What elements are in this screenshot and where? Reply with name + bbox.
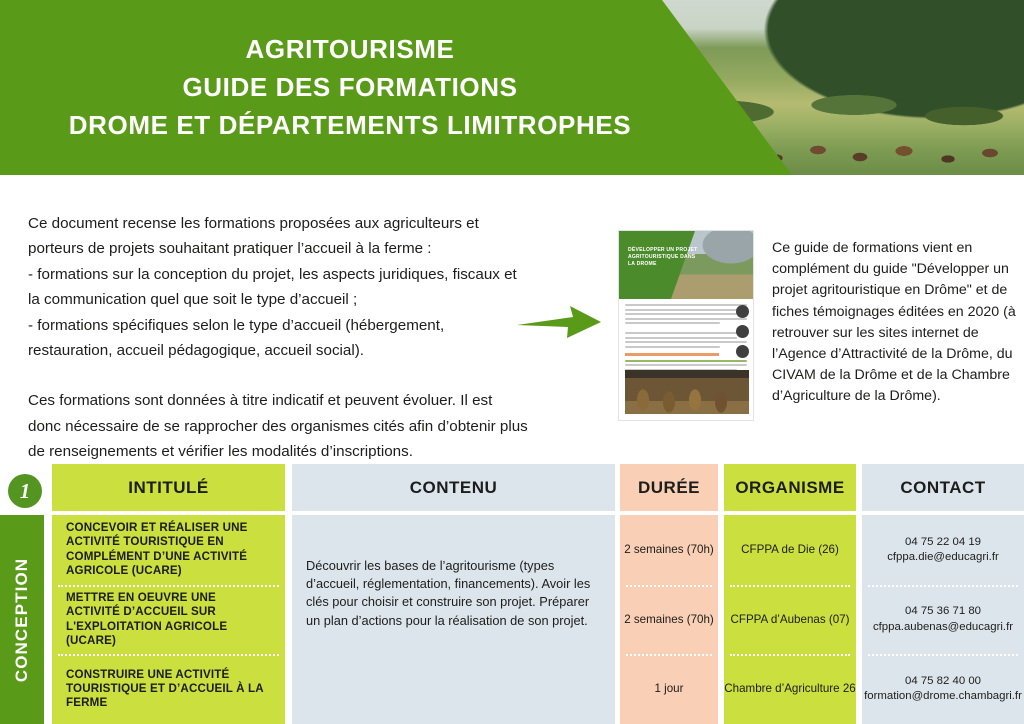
thumbnail-badge-icon-1 (736, 305, 749, 318)
column-header-contact: CONTACT (862, 464, 1024, 511)
thumbnail-subtitle-bar (625, 353, 719, 356)
table-row: Découvrir les bases de l’agritourisme (t… (292, 515, 615, 724)
column-header-intitule: INTITULÉ (52, 464, 285, 511)
cell-contact: 04 75 22 04 19 cfppa.die@educagri.fr (887, 535, 999, 565)
thumbnail-badge-icons (736, 305, 749, 358)
column-body-intitule: CONCEVOIR ET RÉALISER UNE ACTIVITÉ TOURI… (52, 515, 285, 724)
contact-phone: 04 75 22 04 19 (887, 535, 999, 550)
section-number-badge: 1 (8, 474, 42, 508)
contact-phone: 04 75 82 40 00 (864, 674, 1022, 689)
table-grid: INTITULÉ CONTENU DURÉE ORGANISME CONTACT… (52, 462, 1024, 724)
thumbnail-bottom-photo (625, 370, 749, 414)
arrow-right-icon (515, 298, 605, 344)
intro-paragraph-1: Ce document recense les formations propo… (28, 211, 528, 363)
intro-spacer (28, 363, 528, 388)
thumbnail-badge-icon-2 (736, 325, 749, 338)
section-label-conception: CONCEPTION (0, 515, 44, 724)
section-label-text: CONCEPTION (12, 557, 32, 681)
header-title-line-3: DROME ET DÉPARTEMENTS LIMITROPHES (69, 110, 631, 141)
table-row: CFPPA de Die (26) (724, 515, 856, 585)
header-title-block: AGRITOURISME GUIDE DES FORMATIONS DROME … (0, 0, 700, 175)
contact-email[interactable]: cfppa.die@educagri.fr (887, 550, 999, 565)
table-row: 2 semaines (70h) (620, 515, 718, 585)
contact-email[interactable]: cfppa.aubenas@educagri.fr (873, 620, 1013, 635)
table-row: 04 75 82 40 00 formation@drome.chambagri… (862, 654, 1024, 724)
intro-paragraph-2: Ces formations sont données à titre indi… (28, 388, 528, 464)
cell-duree: 2 semaines (70h) (624, 542, 714, 558)
cell-contenu-shared: Découvrir les bases de l’agritourisme (t… (292, 557, 615, 630)
cell-contact: 04 75 82 40 00 formation@drome.chambagri… (864, 674, 1022, 704)
cell-intitule: METTRE EN OEUVRE UNE ACTIVITÉ D’ACCUEIL … (52, 591, 285, 649)
intro-right-text: Ce guide de formations vient en compléme… (772, 238, 1018, 408)
cell-duree: 1 jour (654, 681, 683, 697)
cell-intitule: CONSTRUIRE UNE ACTIVITÉ TOURISTIQUE ET D… (52, 668, 285, 711)
cell-organisme: Chambre d’Agriculture 26 (724, 681, 855, 697)
table-row: CONSTRUIRE UNE ACTIVITÉ TOURISTIQUE ET D… (52, 654, 285, 724)
contact-email[interactable]: formation@drome.chambagri.fr (864, 689, 1022, 704)
formations-table: 1 CONCEPTION INTITULÉ CONTENU DURÉE ORGA… (0, 462, 1024, 724)
header-title-line-2: GUIDE DES FORMATIONS (182, 72, 517, 103)
guide-page: AGRITOURISME GUIDE DES FORMATIONS DROME … (0, 0, 1024, 724)
page-header: AGRITOURISME GUIDE DES FORMATIONS DROME … (0, 0, 1024, 175)
header-title-line-1: AGRITOURISME (246, 34, 455, 65)
column-body-contact: 04 75 22 04 19 cfppa.die@educagri.fr 04 … (862, 515, 1024, 724)
thumbnail-cover-photo: DÉVELOPPER UN PROJET AGRITOURISTIQUE DAN… (619, 231, 753, 299)
cell-organisme: CFPPA d’Aubenas (07) (730, 612, 849, 628)
contact-phone: 04 75 36 71 80 (873, 604, 1013, 619)
column-header-organisme: ORGANISME (724, 464, 856, 511)
table-row: METTRE EN OEUVRE UNE ACTIVITÉ D’ACCUEIL … (52, 585, 285, 655)
cell-duree: 2 semaines (70h) (624, 612, 714, 628)
cell-contact: 04 75 36 71 80 cfppa.aubenas@educagri.fr (873, 604, 1013, 634)
thumbnail-text-lines (619, 299, 753, 348)
column-header-duree: DURÉE (620, 464, 718, 511)
table-row: 04 75 22 04 19 cfppa.die@educagri.fr (862, 515, 1024, 585)
thumbnail-cover-title: DÉVELOPPER UN PROJET AGRITOURISTIQUE DAN… (628, 247, 698, 268)
column-body-duree: 2 semaines (70h) 2 semaines (70h) 1 jour (620, 515, 718, 724)
guide-cover-thumbnail: DÉVELOPPER UN PROJET AGRITOURISTIQUE DAN… (618, 230, 754, 421)
table-row: CONCEVOIR ET RÉALISER UNE ACTIVITÉ TOURI… (52, 515, 285, 585)
column-body-contenu: Découvrir les bases de l’agritourisme (t… (292, 515, 615, 724)
column-body-organisme: CFPPA de Die (26) CFPPA d’Aubenas (07) C… (724, 515, 856, 724)
table-row: CFPPA d’Aubenas (07) (724, 585, 856, 655)
table-row: 1 jour (620, 654, 718, 724)
column-header-contenu: CONTENU (292, 464, 615, 511)
cell-intitule: CONCEVOIR ET RÉALISER UNE ACTIVITÉ TOURI… (52, 521, 285, 579)
table-row: 04 75 36 71 80 cfppa.aubenas@educagri.fr (862, 585, 1024, 655)
table-row: Chambre d’Agriculture 26 (724, 654, 856, 724)
table-row: 2 semaines (70h) (620, 585, 718, 655)
intro-left-text: Ce document recense les formations propo… (28, 211, 528, 465)
thumbnail-badge-icon-3 (736, 345, 749, 358)
cell-organisme: CFPPA de Die (26) (741, 542, 839, 558)
